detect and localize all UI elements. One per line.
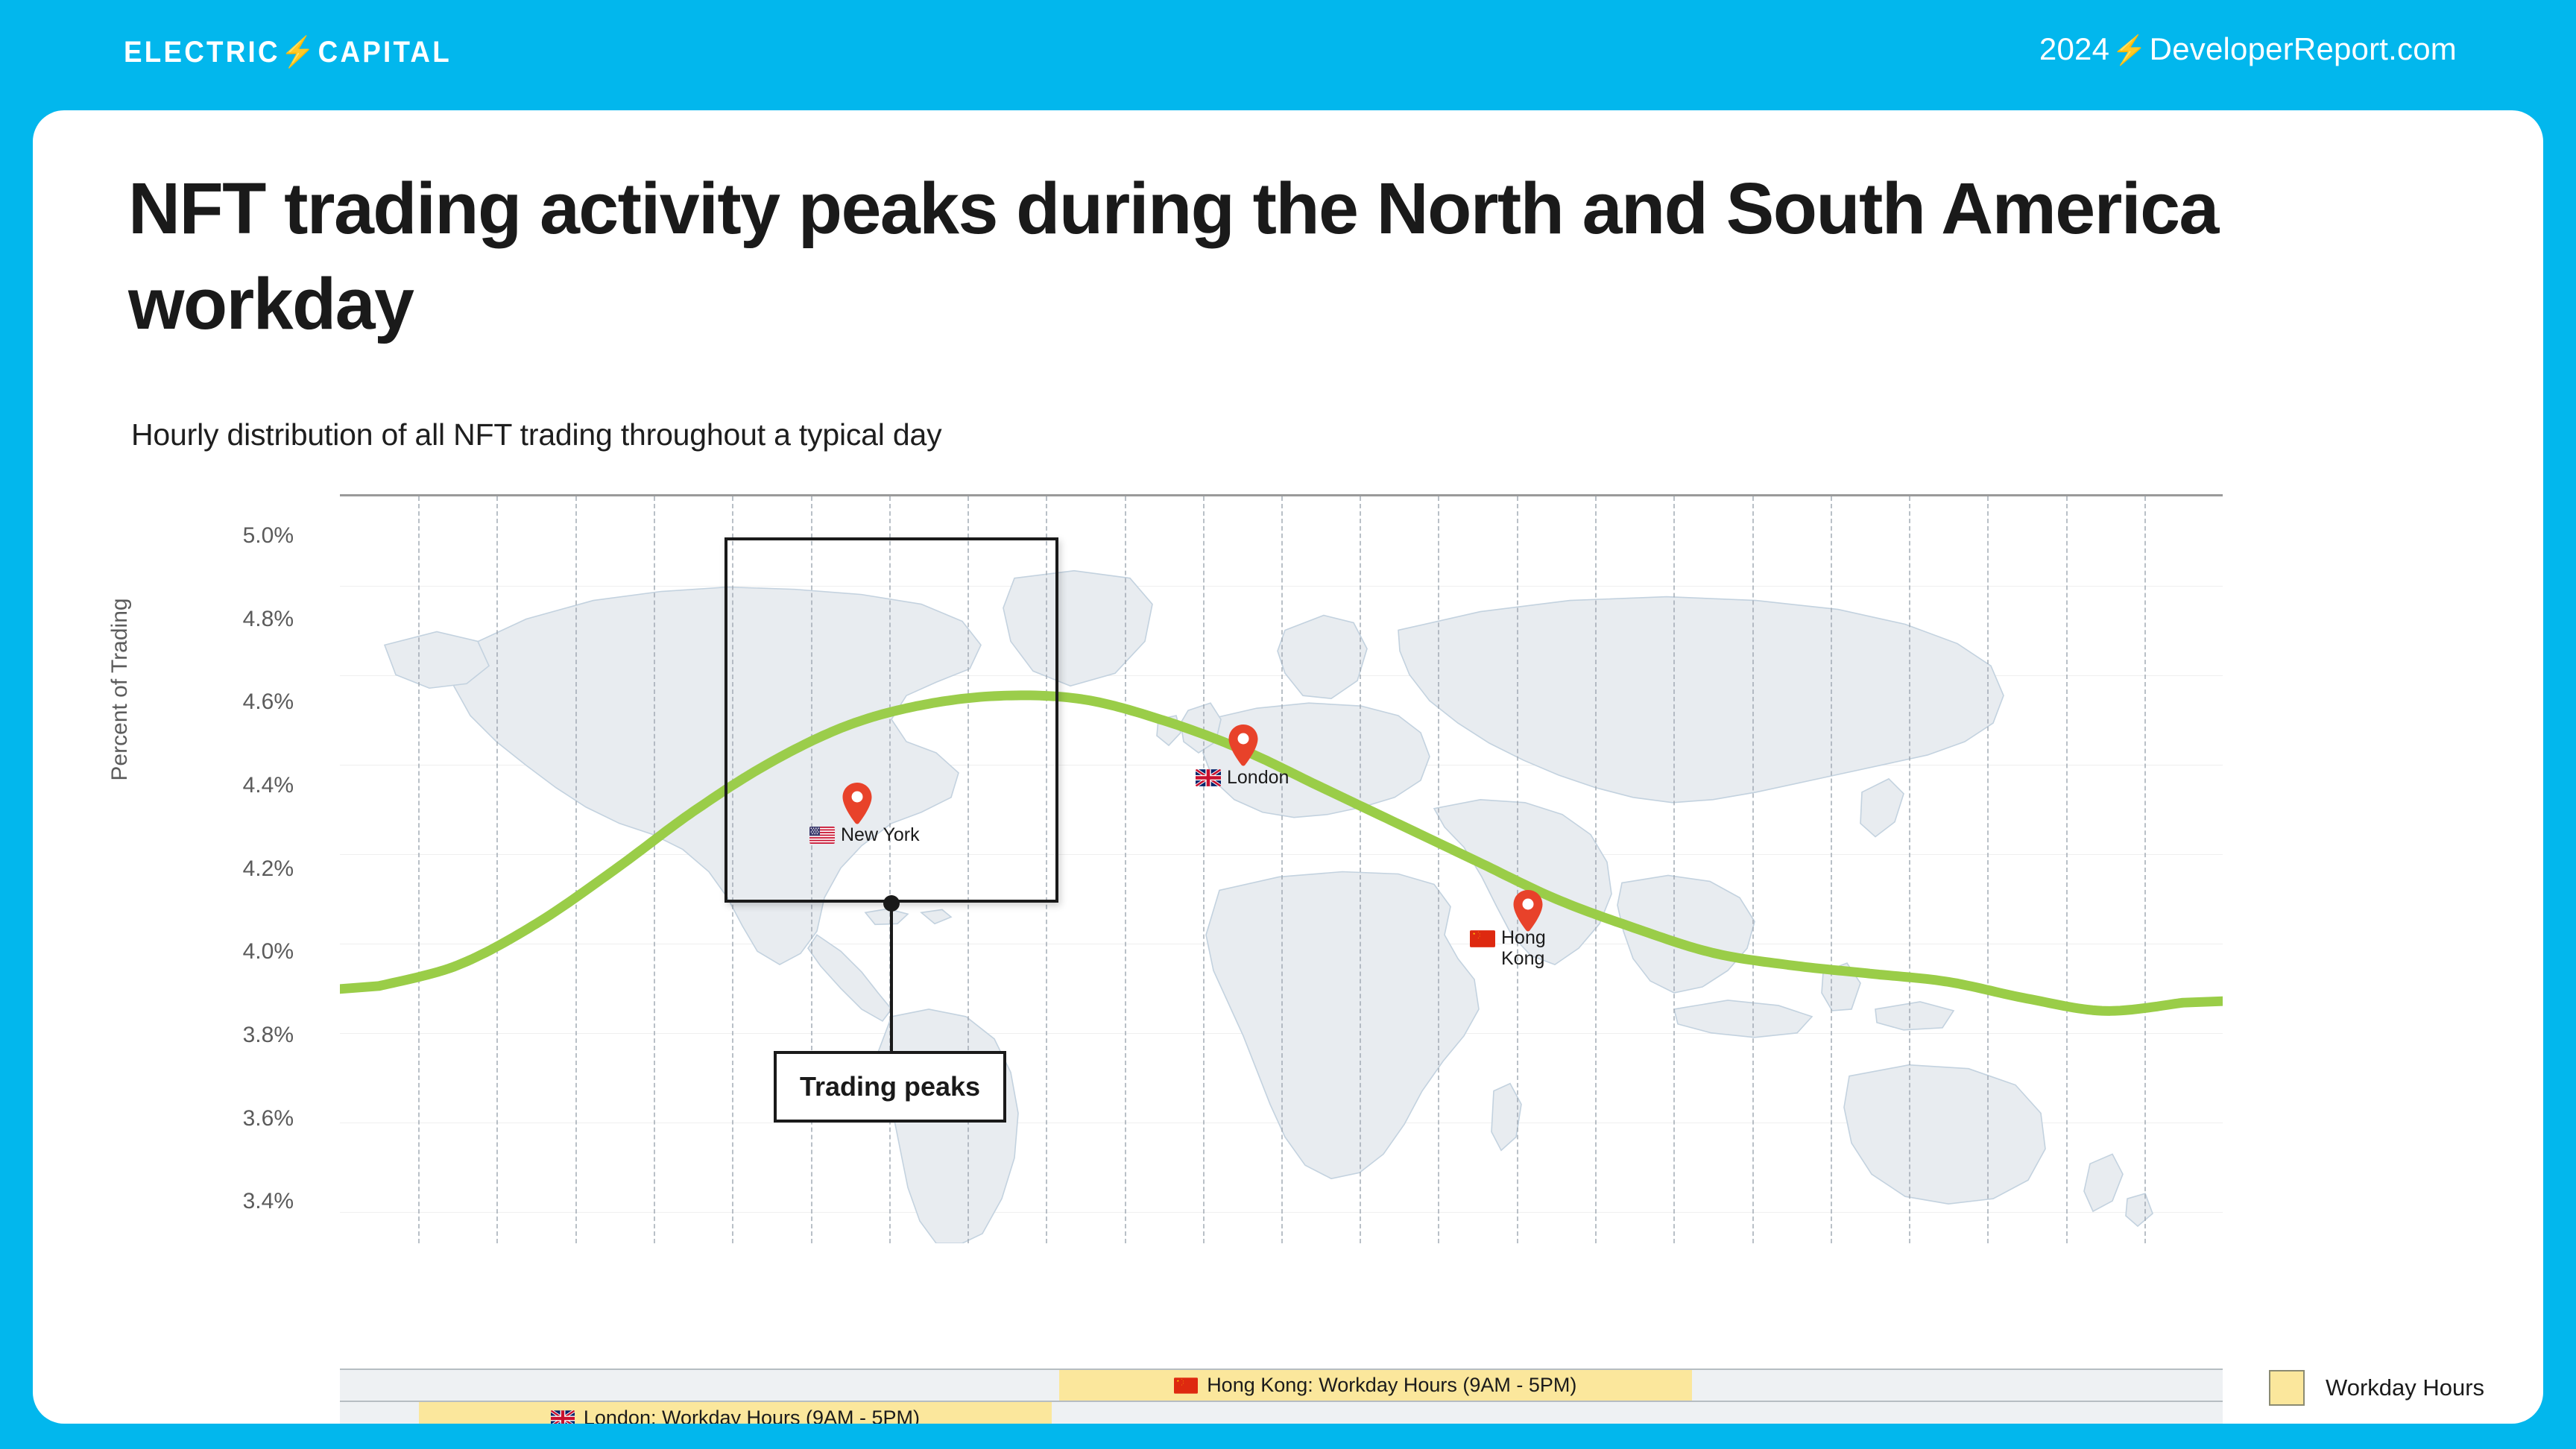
y-axis-tick: 4.2% bbox=[174, 856, 294, 882]
callout-label: Trading peaks bbox=[800, 1071, 980, 1102]
report-url[interactable]: 2024⚡DeveloperReport.com bbox=[2039, 31, 2457, 67]
electric-capital-logo: ELECTRIC⚡CAPITAL bbox=[124, 34, 452, 69]
chart-plot-area: New York Lo bbox=[340, 494, 2223, 1243]
y-axis-tick: 4.4% bbox=[174, 773, 294, 798]
bolt-icon: ⚡ bbox=[2109, 35, 2150, 66]
band-fill-london: London: Workday Hours (9AM - 5PM) bbox=[419, 1402, 1052, 1424]
flag-cn-icon bbox=[1470, 930, 1495, 947]
y-axis-tick: 4.6% bbox=[174, 689, 294, 715]
plot-inner: New York Lo bbox=[340, 496, 2223, 1243]
map-pin-icon bbox=[841, 782, 874, 825]
legend-swatch-workday bbox=[2269, 1370, 2305, 1406]
band-fill-hong-kong: Hong Kong: Workday Hours (9AM - 5PM) bbox=[1059, 1370, 1692, 1401]
chart-legend: Workday Hours Non-Workday Hours bbox=[2269, 1370, 2534, 1424]
page-title: NFT trading activity peaks during the No… bbox=[128, 161, 2439, 352]
flag-gb-icon bbox=[1196, 769, 1221, 786]
y-axis-label: Percent of Trading bbox=[107, 559, 133, 820]
flag-gb-icon bbox=[551, 1410, 575, 1424]
y-axis-ticks: 5.0%4.8%4.6%4.4%4.2%4.0%3.8%3.6%3.4% bbox=[160, 110, 294, 1424]
band-label: London: Workday Hours (9AM - 5PM) bbox=[584, 1407, 920, 1424]
marker-label: Hong Kong bbox=[1501, 927, 1583, 969]
legend-label: Workday Hours bbox=[2326, 1374, 2484, 1401]
brand-word-1: ELECTRIC bbox=[124, 36, 280, 69]
y-axis-tick: 5.0% bbox=[174, 523, 294, 549]
bolt-icon: ⚡ bbox=[280, 36, 318, 69]
band-london: London: Workday Hours (9AM - 5PM) bbox=[340, 1402, 2223, 1424]
y-axis-tick: 3.4% bbox=[174, 1189, 294, 1214]
slide-root: ELECTRIC⚡CAPITAL 2024⚡DeveloperReport.co… bbox=[0, 0, 2576, 1449]
content-card: NFT trading activity peaks during the No… bbox=[33, 110, 2543, 1424]
trading-curve bbox=[340, 496, 2223, 1243]
callout-connector bbox=[890, 903, 893, 1051]
map-pin-icon bbox=[1227, 724, 1260, 767]
report-site: DeveloperReport.com bbox=[2150, 31, 2457, 66]
y-axis-tick: 3.8% bbox=[174, 1023, 294, 1048]
workday-timeline: Hong Kong: Workday Hours (9AM - 5PM) Lon… bbox=[340, 1368, 2223, 1424]
y-axis-tick: 4.8% bbox=[174, 607, 294, 632]
legend-item-workday[interactable]: Workday Hours bbox=[2269, 1370, 2534, 1406]
marker-label: London bbox=[1227, 767, 1289, 788]
band-label: Hong Kong: Workday Hours (9AM - 5PM) bbox=[1207, 1374, 1576, 1397]
flag-cn-icon bbox=[1174, 1377, 1198, 1394]
flag-us-icon bbox=[809, 827, 835, 844]
band-hong-kong: Hong Kong: Workday Hours (9AM - 5PM) bbox=[340, 1368, 2223, 1402]
y-axis-tick: 3.6% bbox=[174, 1106, 294, 1131]
zoom-highlight-rect bbox=[724, 537, 1058, 903]
y-axis-tick: 4.0% bbox=[174, 939, 294, 965]
callout-box: Trading peaks bbox=[774, 1051, 1006, 1123]
brand-word-2: CAPITAL bbox=[318, 36, 452, 69]
page-header: ELECTRIC⚡CAPITAL 2024⚡DeveloperReport.co… bbox=[0, 0, 2576, 104]
map-pin-icon bbox=[1512, 889, 1544, 932]
report-year: 2024 bbox=[2039, 31, 2109, 66]
marker-label: New York bbox=[841, 824, 920, 845]
